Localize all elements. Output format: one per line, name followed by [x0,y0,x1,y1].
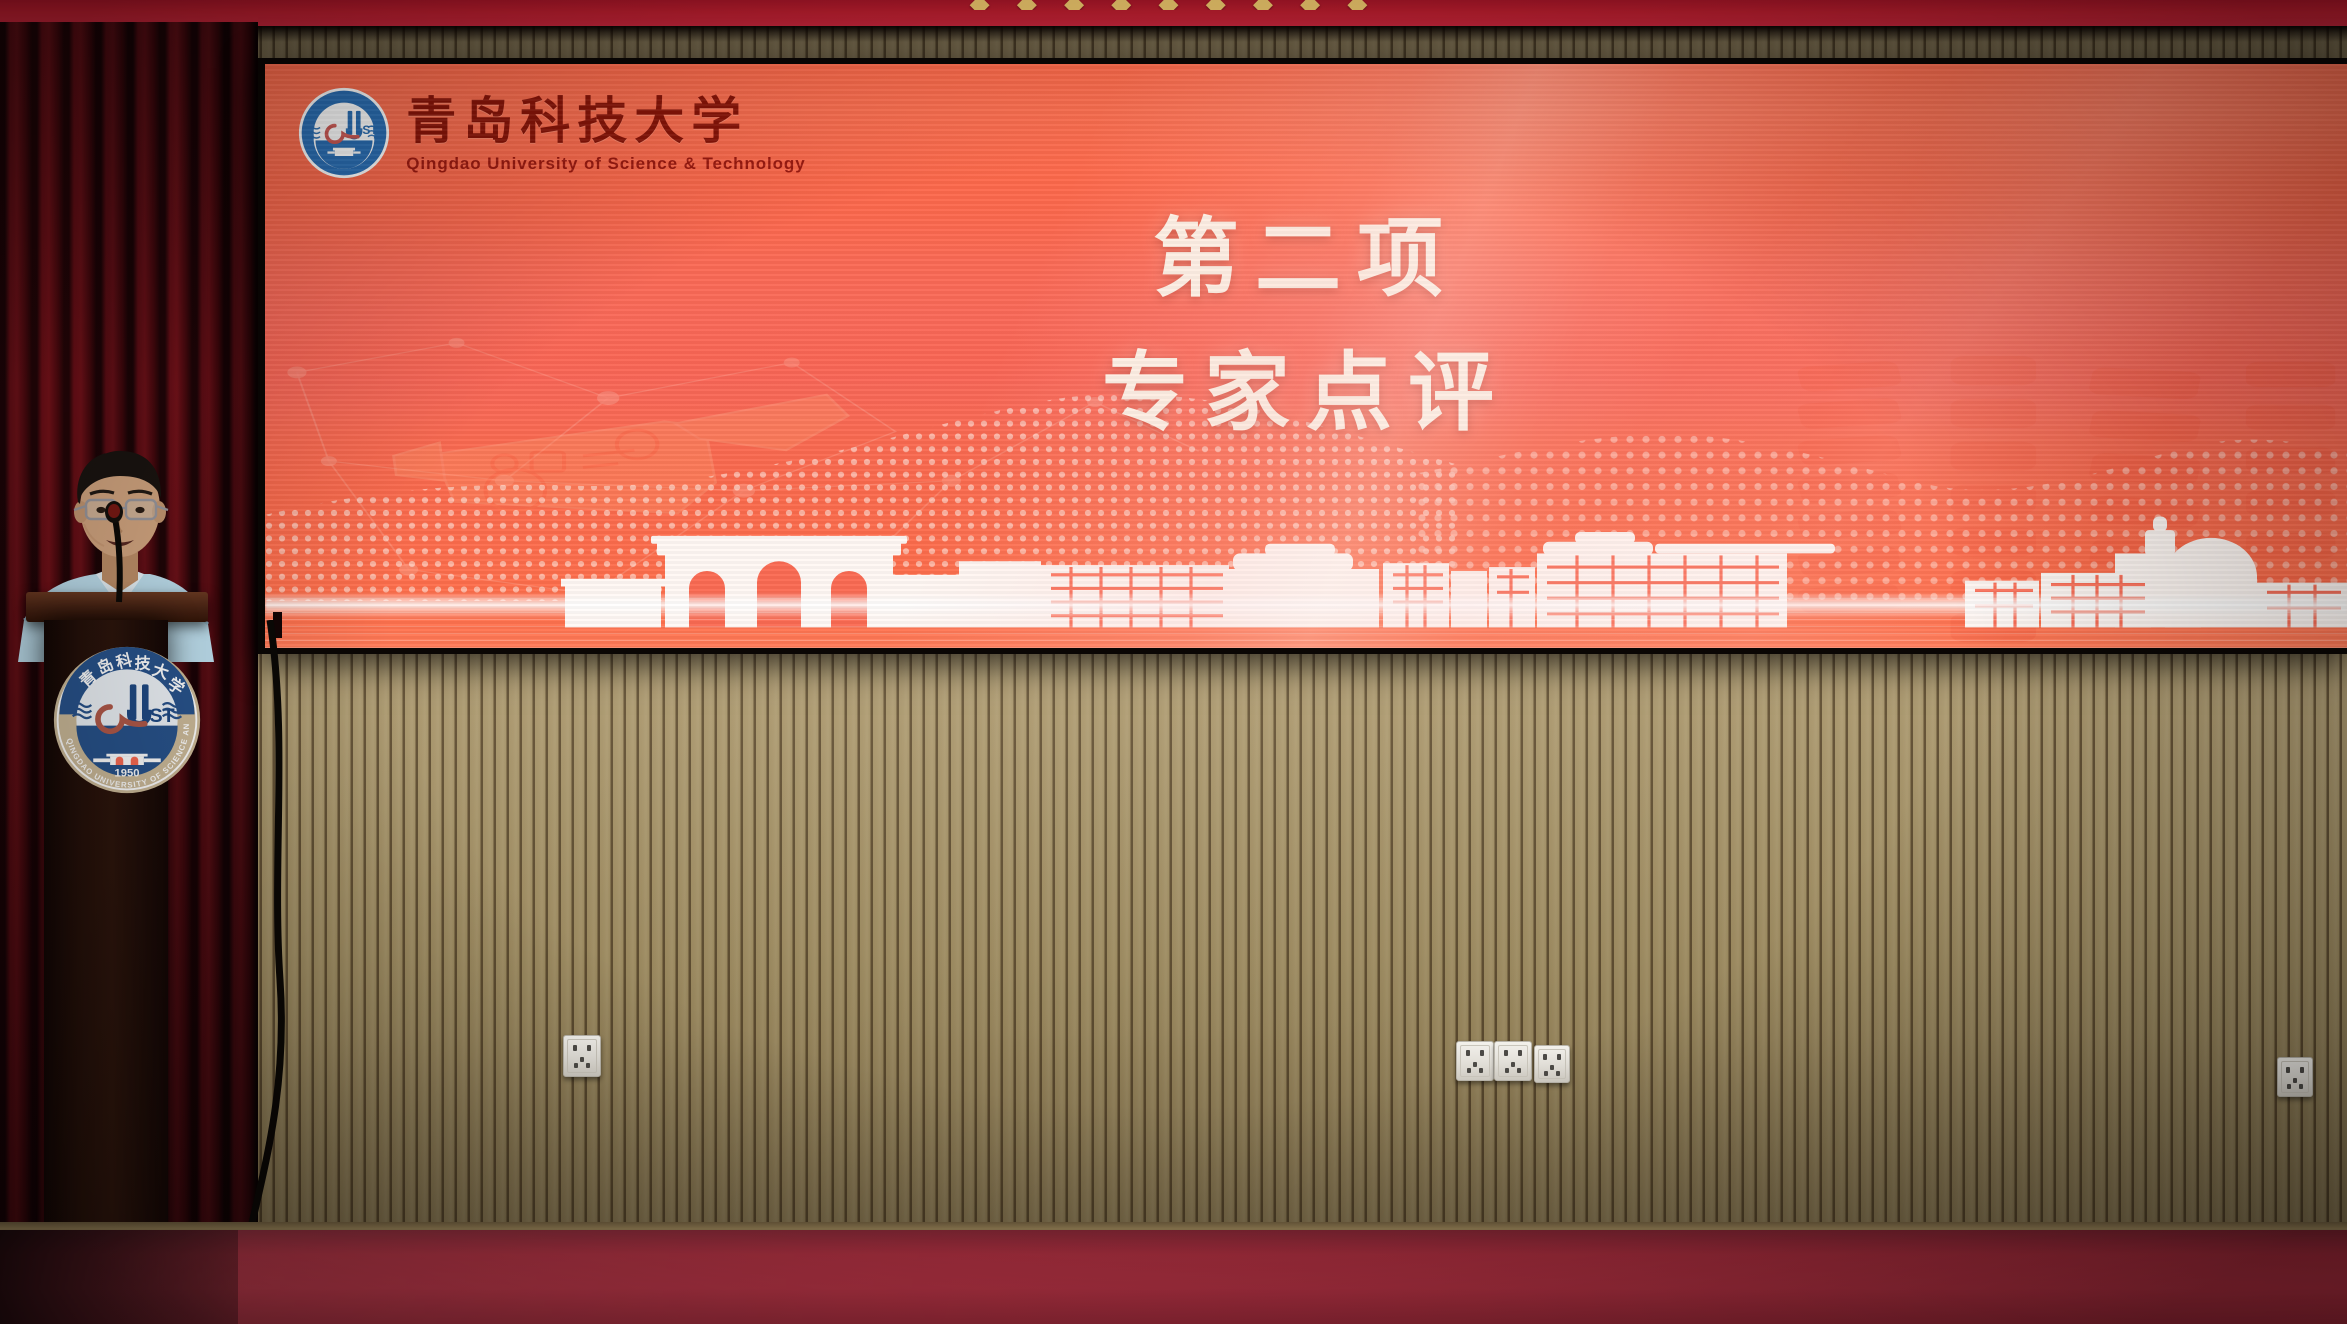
podium-emblem-year: 1950 [114,767,139,779]
ceiling-red-banner: ◆ ◆ ◆ ◆ ◆ ◆ ◆ ◆ ◆ [0,0,2347,26]
outlet-faceplate [1460,1045,1490,1077]
wall-outlet-right[interactable] [2277,1057,2313,1097]
banner-gold-text: ◆ ◆ ◆ ◆ ◆ ◆ ◆ ◆ ◆ [0,0,2347,10]
carpet-sheen-overlay [0,1230,2347,1324]
carpet-shadow-left [0,1230,238,1324]
podium-qust-emblem: 青 岛 科 技 大 学 ST [52,645,202,795]
outlet-faceplate [2281,1061,2309,1093]
outlet-faceplate [1498,1045,1528,1077]
wall-outlet-left[interactable] [563,1035,601,1077]
outlet-faceplate [567,1039,597,1073]
auditorium-scene: ◆ ◆ ◆ ◆ ◆ ◆ ◆ ◆ ◆ [0,0,2347,1324]
svg-text:技: 技 [134,653,151,673]
led-screen-display[interactable]: ST 青岛科技大学 Qingdao University of Science … [265,64,2347,648]
microphone-cable [200,620,320,1324]
wall-outlet-mid-3[interactable] [1534,1045,1570,1083]
banner-drop-shadow [0,26,2347,42]
wall-outlet-mid-2[interactable] [1494,1041,1532,1081]
wall-outlet-mid-1[interactable] [1456,1041,1494,1081]
svg-text:ST: ST [150,705,175,727]
projector-light-sweep-2 [265,64,2347,648]
microphone-icon [95,498,135,608]
